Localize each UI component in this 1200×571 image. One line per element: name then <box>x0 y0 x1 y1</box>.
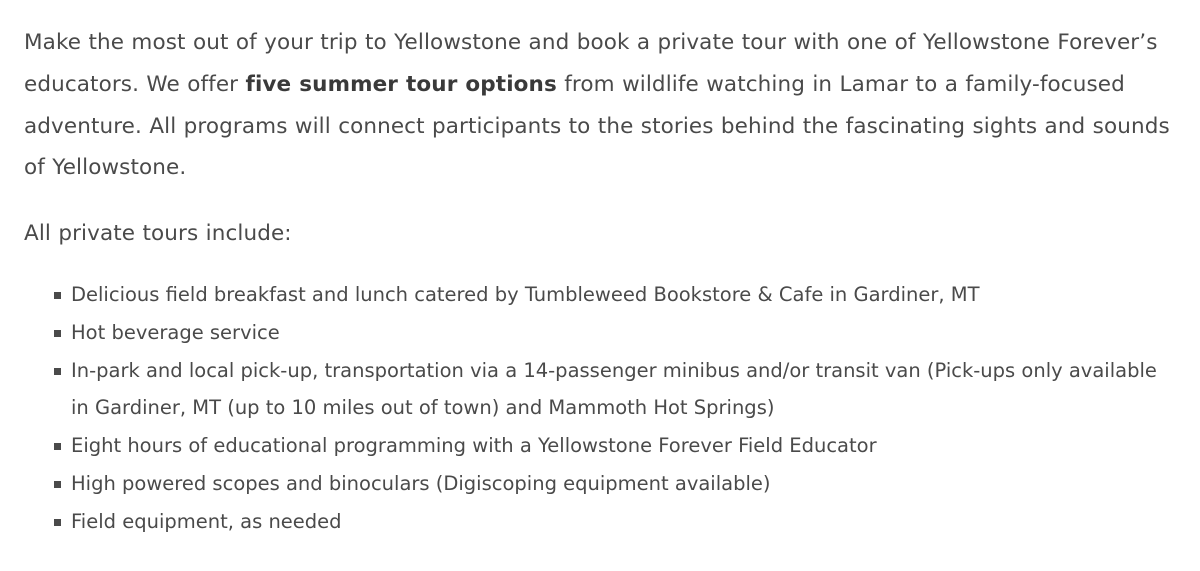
list-item: Delicious field breakfast and lunch cate… <box>24 276 1176 314</box>
list-item-label: In-park and local pick-up, transportatio… <box>71 359 1157 420</box>
document-body: Make the most out of your trip to Yellow… <box>0 0 1200 571</box>
list-item: In-park and local pick-up, transportatio… <box>24 352 1176 428</box>
list-item-label: Eight hours of educational programming w… <box>71 434 877 457</box>
list-item-label: Hot beverage service <box>71 321 280 344</box>
list-item-label: Field equipment, as needed <box>71 510 342 533</box>
intro-emphasis-text: five summer tour options <box>245 72 556 97</box>
square-bullet-icon <box>54 292 61 299</box>
square-bullet-icon <box>54 368 61 375</box>
list-item: Eight hours of educational programming w… <box>24 427 1176 465</box>
square-bullet-icon <box>54 519 61 526</box>
list-item-label: High powered scopes and binoculars (Digi… <box>71 472 771 495</box>
list-item: Hot beverage service <box>24 314 1176 352</box>
list-item: Field equipment, as needed <box>24 503 1176 541</box>
inclusions-list: Delicious field breakfast and lunch cate… <box>24 276 1176 541</box>
list-item-label: Delicious field breakfast and lunch cate… <box>71 283 980 306</box>
square-bullet-icon <box>54 443 61 450</box>
intro-paragraph: Make the most out of your trip to Yellow… <box>24 22 1176 189</box>
square-bullet-icon <box>54 481 61 488</box>
square-bullet-icon <box>54 330 61 337</box>
list-item: High powered scopes and binoculars (Digi… <box>24 465 1176 503</box>
list-intro-paragraph: All private tours include: <box>24 213 1176 255</box>
